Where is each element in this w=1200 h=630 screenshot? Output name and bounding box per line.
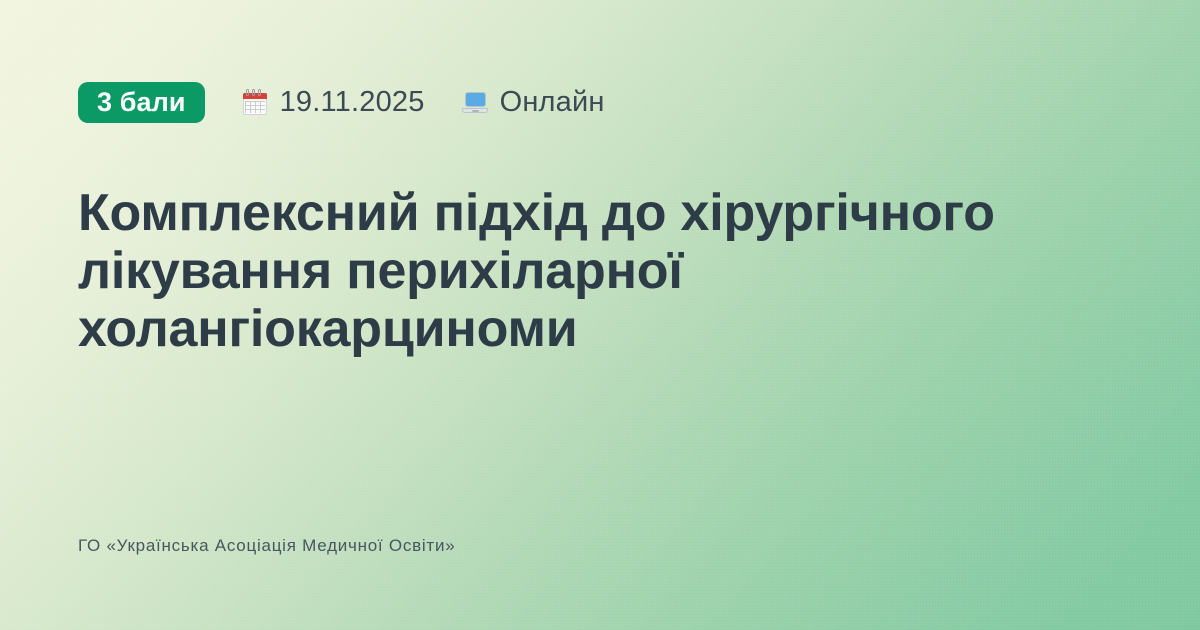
calendar-icon	[242, 88, 268, 116]
event-format-text: Онлайн	[500, 88, 605, 117]
page-title: Комплексний підхід до хірургічного лікув…	[78, 185, 1098, 359]
organizer-name: ГО «Українська Асоціація Медичної Освіти…	[78, 537, 1120, 630]
event-card: 3 бали 19.11.2025 Онлайн	[0, 0, 1200, 630]
title-line: холангіокарциноми	[78, 301, 1098, 359]
event-format: Онлайн	[462, 88, 605, 117]
credits-badge: 3 бали	[78, 82, 205, 123]
title-line: лікування перихіларної	[78, 243, 1098, 301]
title-line: Комплексний підхід до хірургічного	[78, 185, 1098, 243]
event-date-text: 19.11.2025	[280, 88, 425, 117]
event-date: 19.11.2025	[242, 88, 425, 117]
laptop-icon	[462, 88, 488, 116]
spacer	[78, 359, 1120, 537]
card-content: 3 бали 19.11.2025 Онлайн	[0, 0, 1200, 630]
meta-row: 3 бали 19.11.2025 Онлайн	[78, 81, 1120, 123]
